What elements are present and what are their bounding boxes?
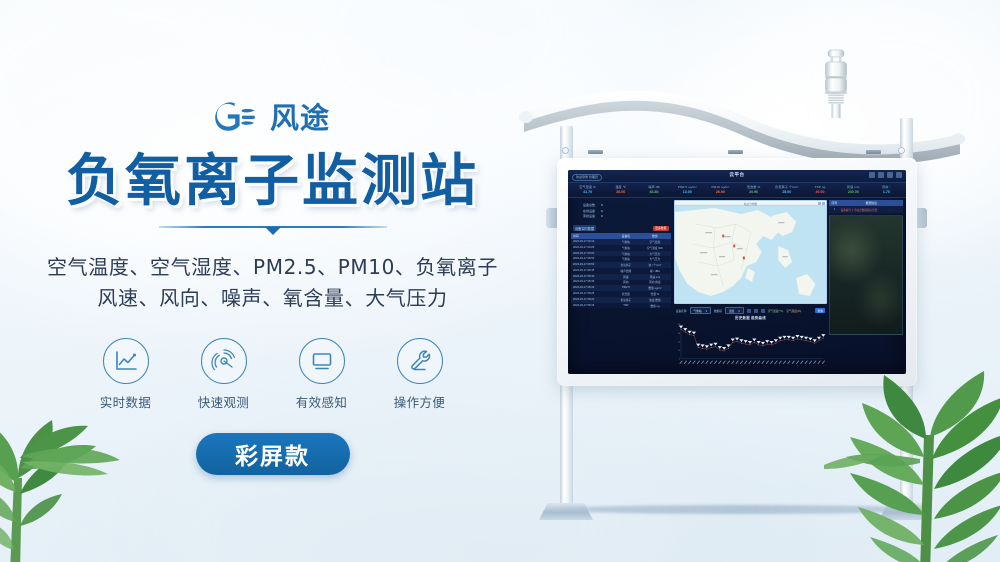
table-cell: 数值 ug bbox=[639, 303, 671, 309]
metric-card[interactable]: 噪声 dB46.80 bbox=[637, 185, 670, 195]
metric-value: 41.70 bbox=[571, 190, 604, 195]
feature-label: 实时数据 bbox=[100, 392, 152, 411]
feature-item-easy-operation[interactable]: 操作方便 bbox=[389, 338, 451, 411]
svg-text:0: 0 bbox=[679, 359, 680, 361]
feature-item-realtime-data[interactable]: 实时数据 bbox=[95, 338, 157, 411]
chevron-down-icon: ▾ bbox=[738, 309, 739, 313]
station-map-card[interactable]: 站点分布图 bbox=[674, 200, 828, 304]
screen-title: 云平台 bbox=[729, 172, 744, 178]
view-toggle-icon[interactable] bbox=[747, 309, 751, 313]
metric-value: 26.00 bbox=[604, 190, 637, 195]
chevron-down-divider-icon bbox=[265, 227, 281, 235]
chart-title: 历史数据 趋势曲线 bbox=[735, 315, 766, 320]
metric-value: 1.70 bbox=[870, 190, 903, 195]
wind-leaf-g-logo-icon bbox=[215, 101, 261, 135]
bell-icon[interactable] bbox=[878, 172, 884, 178]
device-select-value: 气象站 bbox=[694, 309, 702, 313]
metric-select[interactable]: 温度 ▾ bbox=[725, 307, 744, 315]
metric-card[interactable]: 空气湿度 %41.70 bbox=[571, 185, 604, 195]
more-data-button[interactable]: 更多数据 bbox=[653, 226, 669, 231]
feature-label: 有效感知 bbox=[296, 392, 348, 411]
feature-icon-circle bbox=[299, 338, 345, 384]
subtitle-line-2: 风速、风向、噪声、氧含量、大气压力 bbox=[47, 283, 498, 314]
monitor-screen-icon bbox=[309, 348, 335, 374]
table-section-title: 设备实时数据 bbox=[573, 225, 596, 231]
mount-ring-left bbox=[562, 147, 569, 154]
metric-card[interactable]: PM2.5 ug/m³13.00 bbox=[671, 185, 704, 195]
map-card-titlebar: 站点分布图 bbox=[675, 201, 827, 206]
hero-banner: 风途 负氧离子监测站 空气温度、空气湿度、PM2.5、PM10、负氧离子 风速、… bbox=[0, 0, 1000, 562]
metric-strip: 空气湿度 %41.70温度 ℃26.00噪声 dB46.80PM2.5 ug/m… bbox=[568, 183, 906, 198]
metric-card[interactable]: 温度 ℃26.00 bbox=[604, 185, 637, 195]
device-stats: 设备总数3在线设备3离线设备0 bbox=[571, 200, 671, 222]
china-region-map[interactable] bbox=[675, 206, 827, 304]
metric-card[interactable]: 风速 m/s230.00 bbox=[837, 185, 870, 195]
alarm-row[interactable]: 1 设备编号 3 号站点数据超标告警 bbox=[829, 206, 903, 212]
exit-icon[interactable] bbox=[896, 172, 902, 178]
map-card-title: 站点分布图 bbox=[744, 202, 757, 206]
camera-feed-panel[interactable] bbox=[829, 215, 903, 335]
history-chart[interactable]: 历史数据 趋势曲线 010203040 bbox=[674, 315, 828, 372]
feature-icon-circle bbox=[397, 338, 443, 384]
feature-icon-circle bbox=[103, 338, 149, 384]
device-stat-row: 离线设备0 bbox=[583, 214, 671, 219]
feature-item-effective-sensing[interactable]: 有效感知 bbox=[291, 338, 353, 411]
refresh-icon[interactable] bbox=[761, 309, 765, 313]
screen-header-icons[interactable] bbox=[869, 172, 902, 178]
screen-body: 设备总数3在线设备3离线设备0 设备实时数据 更多数据 时间 设备名 数值 2 bbox=[568, 198, 906, 374]
metric-value: 20.90 bbox=[737, 190, 770, 195]
map-close-icon[interactable] bbox=[822, 202, 825, 205]
alarm-index: 1 bbox=[829, 206, 839, 212]
metric-value: 25.00 bbox=[770, 190, 803, 195]
feature-label: 快速观测 bbox=[198, 392, 250, 411]
metric-value: 46.80 bbox=[637, 190, 670, 195]
screen-left-panel: 设备总数3在线设备3离线设备0 设备实时数据 更多数据 时间 设备名 数值 2 bbox=[568, 198, 673, 374]
device-stat-label: 离线设备 bbox=[583, 214, 595, 219]
map-zoom-icon[interactable] bbox=[818, 202, 821, 205]
hero-subtitle: 空气温度、空气湿度、PM2.5、PM10、负氧离子 风速、风向、噪声、氧含量、大… bbox=[47, 252, 498, 314]
metric-card[interactable]: 负氧离子 个/cm³25.00 bbox=[770, 185, 803, 195]
svg-text:20: 20 bbox=[678, 342, 680, 344]
screen-top-bar: 欢迎登录 管理员 云平台 bbox=[568, 170, 906, 183]
user-icon[interactable] bbox=[887, 172, 893, 178]
screen-login-label[interactable]: 欢迎登录 管理员 bbox=[572, 174, 602, 181]
screen-right-panel: 序号 报警信息 1 设备编号 3 号站点数据超标告警 bbox=[828, 198, 906, 374]
control-label-device: 设备名称 bbox=[676, 309, 687, 313]
metric-value: 26.00 bbox=[704, 190, 737, 195]
mount-tab bbox=[866, 150, 881, 154]
legend-item-temperature: 空气温度(℃) bbox=[768, 309, 784, 313]
alarm-message: 设备编号 3 号站点数据超标告警 bbox=[840, 206, 903, 212]
table-cell: TSP bbox=[613, 303, 639, 309]
metric-select-value: 温度 bbox=[729, 309, 734, 313]
device-stat-value: 0 bbox=[601, 214, 603, 219]
mount-tab bbox=[728, 150, 743, 154]
feature-list: 实时数据 快速观测 bbox=[95, 338, 451, 411]
table-cell: 2023-03-17 08:15 bbox=[571, 303, 613, 309]
metric-card[interactable]: PM10 ug/m³26.00 bbox=[704, 185, 737, 195]
dashboard-screen[interactable]: 欢迎登录 管理员 云平台 空气湿度 %41.70温度 ℃26.00噪声 dB46… bbox=[568, 170, 906, 374]
metric-card[interactable]: TSP ug40.00 bbox=[803, 185, 836, 195]
wrench-icon bbox=[407, 348, 433, 374]
color-screen-model-button[interactable]: 彩屏款 bbox=[196, 433, 350, 475]
metric-card[interactable]: 风向 °1.70 bbox=[870, 185, 903, 195]
brand-logo: 风途 bbox=[215, 98, 330, 138]
realtime-data-table[interactable]: 时间 设备名 数值 2023-03-17 09:10气象站空气温度2023-03… bbox=[571, 233, 671, 308]
radar-sensor-icon bbox=[211, 348, 237, 374]
feature-icon-circle bbox=[201, 338, 247, 384]
control-label-metric: 数据项 bbox=[714, 309, 722, 313]
screen-center-panel: 站点分布图 bbox=[673, 198, 829, 374]
table-row[interactable]: 2023-03-17 08:15TSP数值 ug bbox=[571, 303, 671, 309]
grid-icon[interactable] bbox=[869, 172, 875, 178]
hero-text-column: 风途 负氧离子监测站 空气温度、空气湿度、PM2.5、PM10、负氧离子 风速、… bbox=[0, 0, 545, 562]
map-card-controls[interactable] bbox=[818, 202, 826, 205]
feature-item-fast-observation[interactable]: 快速观测 bbox=[193, 338, 255, 411]
ground-shadow bbox=[548, 505, 938, 514]
feature-label: 操作方便 bbox=[394, 392, 446, 411]
trend-line-chart: 010203040 bbox=[674, 316, 828, 372]
metric-value: 230.00 bbox=[837, 190, 870, 195]
metric-card[interactable]: 氧含量 %20.90 bbox=[737, 185, 770, 195]
chart-controls[interactable]: 设备名称 气象站 ▾ 数据项 温度 ▾ bbox=[674, 304, 828, 315]
title-divider bbox=[159, 224, 387, 236]
metric-value: 40.00 bbox=[803, 190, 836, 195]
mount-tab bbox=[588, 150, 603, 154]
export-icon[interactable] bbox=[754, 309, 758, 313]
line-chart-icon bbox=[113, 348, 139, 374]
query-button[interactable]: 查询 bbox=[815, 308, 825, 313]
svg-text:30: 30 bbox=[678, 333, 680, 335]
legend-item-humidity: 空气湿度(%) bbox=[786, 309, 801, 313]
monitoring-station-device: 欢迎登录 管理员 云平台 空气湿度 %41.70温度 ℃26.00噪声 dB46… bbox=[500, 40, 970, 520]
device-select[interactable]: 气象站 ▾ bbox=[690, 307, 711, 315]
data-table-header-bar: 设备实时数据 更多数据 bbox=[571, 224, 671, 232]
chevron-down-icon: ▾ bbox=[706, 309, 707, 313]
metric-value: 13.00 bbox=[671, 190, 704, 195]
display-housing: 欢迎登录 管理员 云平台 空气湿度 %41.70温度 ℃26.00噪声 dB46… bbox=[557, 158, 917, 386]
mount-ring-right bbox=[898, 147, 905, 154]
subtitle-line-1: 空气温度、空气湿度、PM2.5、PM10、负氧离子 bbox=[47, 252, 498, 283]
brand-name: 风途 bbox=[270, 104, 330, 133]
page-title: 负氧离子监测站 bbox=[66, 152, 479, 211]
svg-text:10: 10 bbox=[678, 350, 680, 352]
